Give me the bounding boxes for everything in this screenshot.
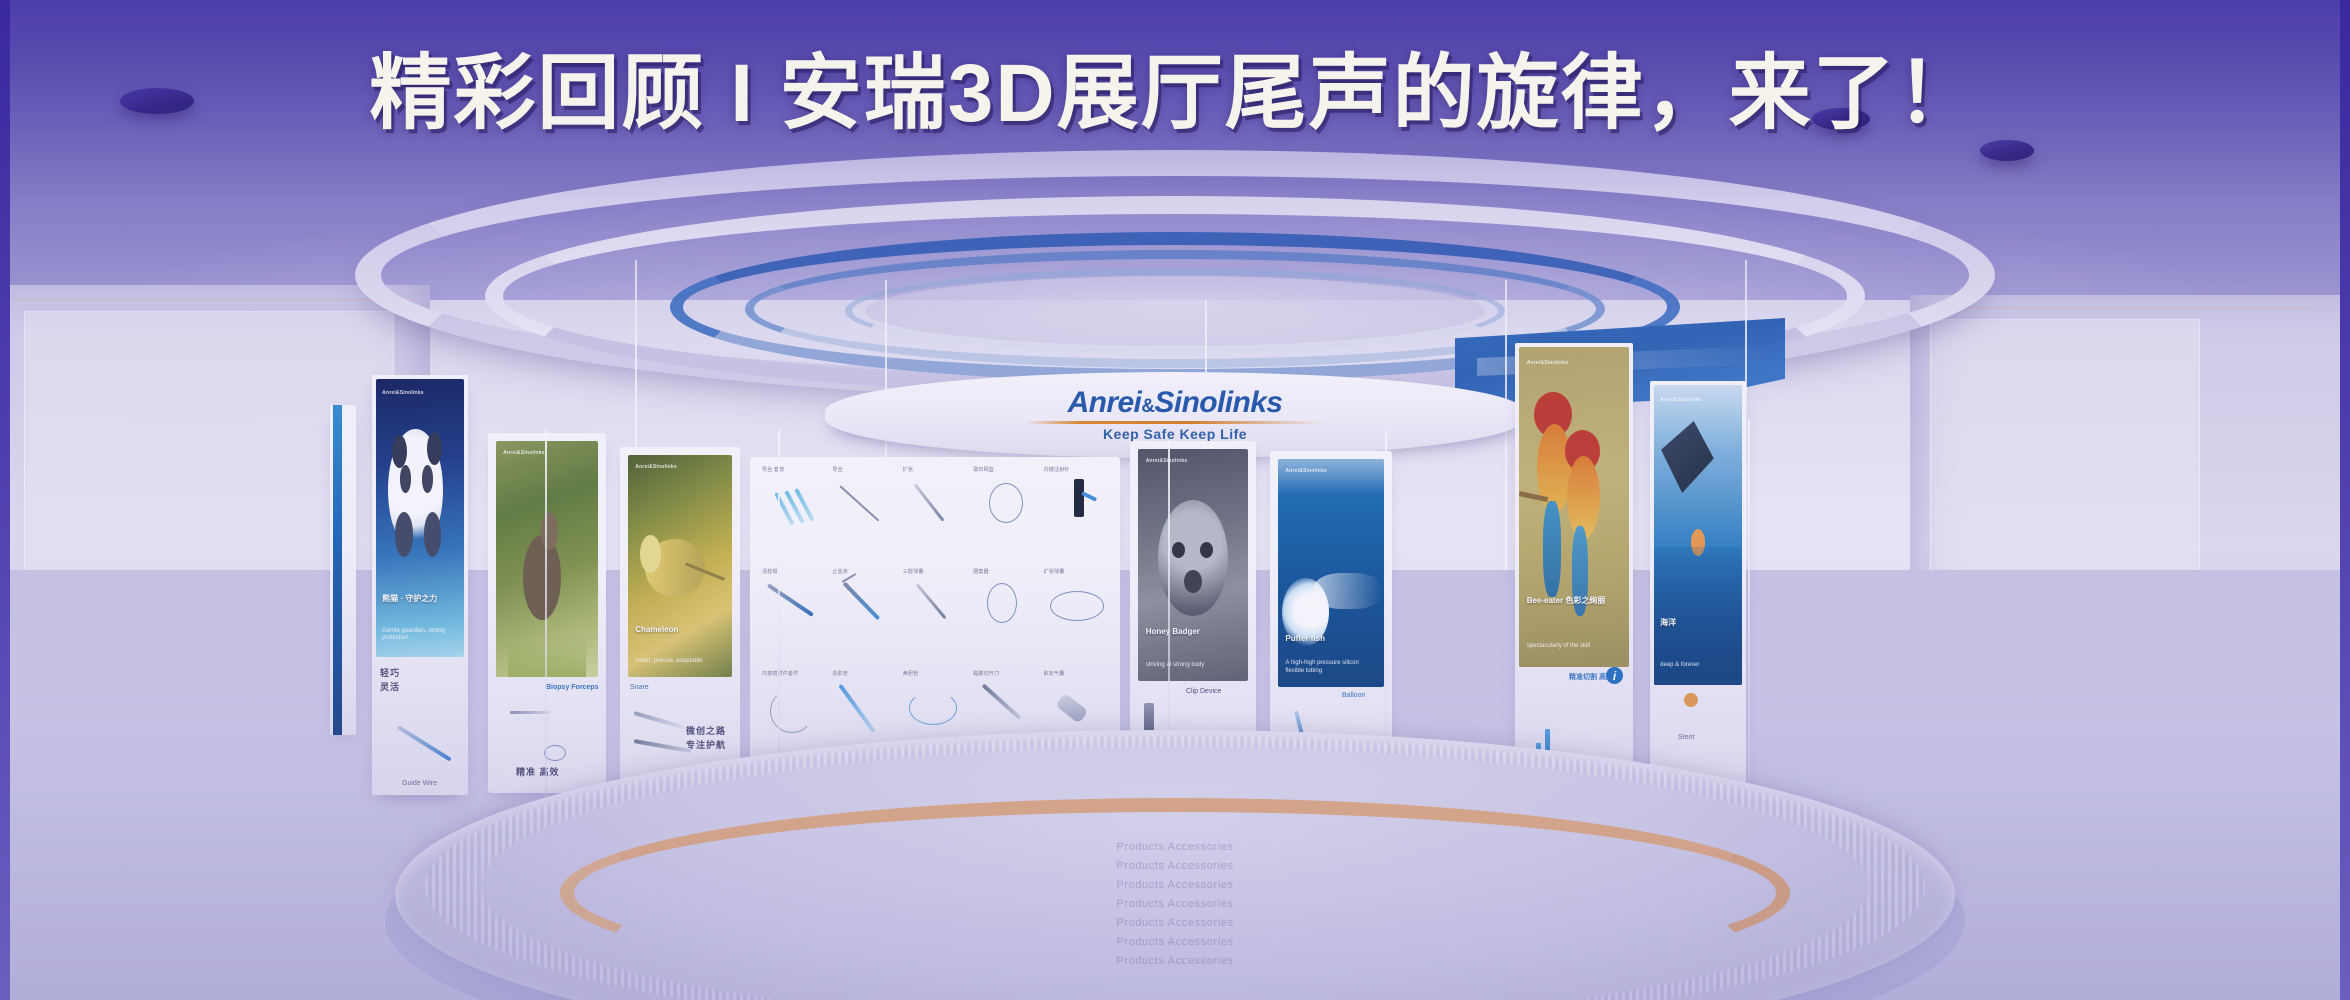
poster-art-puffer: Anrei&Sinolinks Puffer fish A high-high …	[1278, 459, 1384, 687]
panda-ear-right	[427, 432, 442, 465]
poster-brand-mark: Anrei&Sinolinks	[635, 464, 677, 470]
badger-eye-right	[1200, 542, 1213, 558]
product-label: 三腔球囊	[903, 568, 924, 575]
panda-arm-right	[424, 512, 442, 556]
poster-caption-en: Balloon	[1342, 691, 1365, 702]
product-icon	[767, 583, 814, 617]
poster-title: Puffer fish	[1285, 634, 1376, 644]
product-label: 黏膜切开刀	[973, 670, 999, 677]
orange-accent-band	[560, 798, 1790, 988]
product-icon	[989, 483, 1023, 523]
poster-art-ocean: Anrei&Sinolinks 海洋 deep & forever	[1654, 385, 1742, 685]
poster-brand-mark: Anrei&Sinolinks	[382, 390, 424, 396]
product-cell: 扩张球囊	[1042, 567, 1110, 667]
accent-dot-icon	[1684, 693, 1698, 707]
info-icon: i	[1606, 667, 1623, 684]
product-cell: 导丝 套管	[760, 465, 828, 565]
product-icon	[1050, 591, 1104, 621]
poster-panel-chameleon: Anrei&Sinolinks Chameleon smart, precise…	[620, 447, 740, 795]
product-label: 取石网篮	[973, 466, 994, 473]
product-cell: 扩张	[901, 465, 969, 565]
product-label: 鼻胆管	[903, 670, 919, 677]
product-cell: 止血夹	[830, 567, 898, 667]
product-label: 取石气囊	[1044, 670, 1065, 677]
poster-subtitle: deep & forever	[1660, 662, 1736, 670]
product-icon	[914, 484, 945, 522]
product-cell: 导丝	[830, 465, 898, 565]
product-label: 造影管	[832, 670, 848, 677]
product-label: 导丝	[832, 466, 842, 473]
panda-ear-left	[392, 435, 407, 468]
poster-brand-mark: Anrei&Sinolinks	[1660, 397, 1702, 403]
poster-subtitle: striving at strong body	[1146, 662, 1241, 670]
product-illustration	[397, 725, 452, 761]
poster-subtitle: Gentle guardian, strong protection	[382, 628, 458, 644]
poster-title: 熊猫 · 守护之力	[382, 594, 458, 604]
panda-arm-left	[395, 512, 413, 556]
right-edge-strip	[2340, 0, 2350, 1000]
poster-brand-mark: Anrei&Sinolinks	[1285, 468, 1327, 474]
poster-caption-en: Stent	[1678, 733, 1694, 744]
poster-brand-mark: Anrei&Sinolinks	[1146, 458, 1188, 464]
poster-title: 海洋	[1660, 618, 1736, 628]
product-label: 内窥镜附件套件	[762, 670, 798, 677]
product-grid: 导丝 套管 导丝 扩张 取石网篮 内	[750, 457, 1120, 777]
product-icon	[843, 582, 881, 621]
poster-caption-en: Clip Device	[1186, 687, 1221, 698]
exhibition-hall-banner: Anrei&Sinolinks Keep Safe Keep Life Anre…	[0, 0, 2350, 1000]
poster-caption-en: Snare	[630, 683, 649, 694]
puffer-fish-body	[1314, 573, 1382, 609]
poster-caption-en: Guide Wire	[402, 779, 437, 790]
poster-subtitle: smart, precise, adaptable	[635, 658, 724, 666]
product-label: 圈套器	[973, 568, 989, 575]
poster-art-panda: Anrei&Sinolinks 熊猫 · 守护之力 Gentle guardia…	[376, 379, 464, 657]
badger-snout	[1184, 570, 1202, 593]
panda-eye-left	[400, 465, 411, 493]
poster-standee-panda: Anrei&Sinolinks 熊猫 · 守护之力 Gentle guardia…	[372, 375, 468, 795]
edge-banner-left	[330, 405, 356, 735]
poster-art-kangaroo: Anrei&Sinolinks	[496, 441, 598, 677]
product-grid-panel: 导丝 套管 导丝 扩张 取石网篮 内	[750, 457, 1120, 777]
ceiling-ring-pale	[845, 268, 1505, 354]
poster-caption-en: Biopsy Forceps	[546, 683, 599, 694]
product-icon	[1074, 479, 1084, 517]
product-label: 活检钳	[762, 568, 778, 575]
product-label: 导丝 套管	[762, 466, 784, 473]
poster-standee-ocean: Anrei&Sinolinks 海洋 deep & forever Stent …	[1650, 381, 1746, 821]
kangaroo-head	[541, 512, 558, 550]
product-label: 内镜注射针	[1044, 466, 1070, 473]
product-illustration-loop	[544, 745, 566, 761]
product-icon	[1055, 693, 1088, 724]
banner-color-strip	[333, 405, 342, 735]
product-cell: 活检钳	[760, 567, 828, 667]
product-illustration	[633, 711, 684, 729]
poster-standee-birds: Anrei&Sinolinks Bee-eater 色彩之绚丽 spectacu…	[1515, 343, 1633, 813]
product-cell: 圈套器	[971, 567, 1039, 667]
product-label: 扩张球囊	[1044, 568, 1065, 575]
product-cell: 取石网篮	[971, 465, 1039, 565]
page-title: 精彩回顾 I 安瑞3D展厅尾声的旋律，来了！	[0, 26, 2350, 145]
support-rail	[1748, 420, 1750, 820]
poster-subtitle: spectacularly of the skill	[1527, 643, 1622, 651]
product-cell: 三腔球囊	[901, 567, 969, 667]
puffer-surface-light	[1278, 459, 1384, 495]
product-label: 扩张	[903, 466, 913, 473]
ocean-bird-silhouette	[1661, 421, 1714, 493]
product-illustration	[510, 711, 550, 714]
poster-caption-cn: 轻巧 灵活	[380, 667, 450, 694]
poster-brand-mark: Anrei&Sinolinks	[1527, 360, 1569, 366]
poster-art-chameleon: Anrei&Sinolinks Chameleon smart, precise…	[628, 455, 732, 677]
poster-brand-mark: Anrei&Sinolinks	[503, 450, 545, 456]
support-rail	[545, 430, 547, 820]
poster-caption-cn: 精准 高效	[516, 766, 560, 780]
product-icon	[982, 684, 1022, 720]
poster-title: Bee-eater 色彩之绚丽	[1527, 596, 1622, 606]
product-illustration	[634, 739, 692, 753]
product-icon	[840, 485, 880, 521]
bird-two-body	[1567, 456, 1600, 539]
product-label: 止血夹	[832, 568, 848, 575]
poster-panel-kangaroo: Anrei&Sinolinks Biopsy Forceps 精准 高效	[488, 433, 606, 793]
poster-art-badger: Anrei&Sinolinks Honey Badger striving at…	[1138, 449, 1248, 681]
product-icon	[839, 684, 876, 733]
left-edge-strip	[0, 0, 10, 1000]
product-icon	[987, 583, 1017, 623]
poster-title: Chameleon	[635, 625, 724, 635]
bird-one-tail	[1543, 501, 1561, 597]
kangaroo-body	[523, 535, 562, 620]
panda-eye-right	[422, 465, 433, 493]
product-cell: 内镜注射针	[1042, 465, 1110, 565]
chameleon-head	[640, 535, 661, 573]
poster-title: Honey Badger	[1146, 627, 1241, 637]
poster-subtitle: A high-high pressure silicon flexible tu…	[1285, 660, 1376, 676]
product-icon	[770, 689, 814, 733]
poster-caption-cn: 微创之路 专注护航	[686, 725, 736, 752]
product-icon	[909, 691, 957, 725]
poster-art-birds: Anrei&Sinolinks Bee-eater 色彩之绚丽 spectacu…	[1519, 347, 1629, 667]
product-icon	[916, 584, 947, 620]
